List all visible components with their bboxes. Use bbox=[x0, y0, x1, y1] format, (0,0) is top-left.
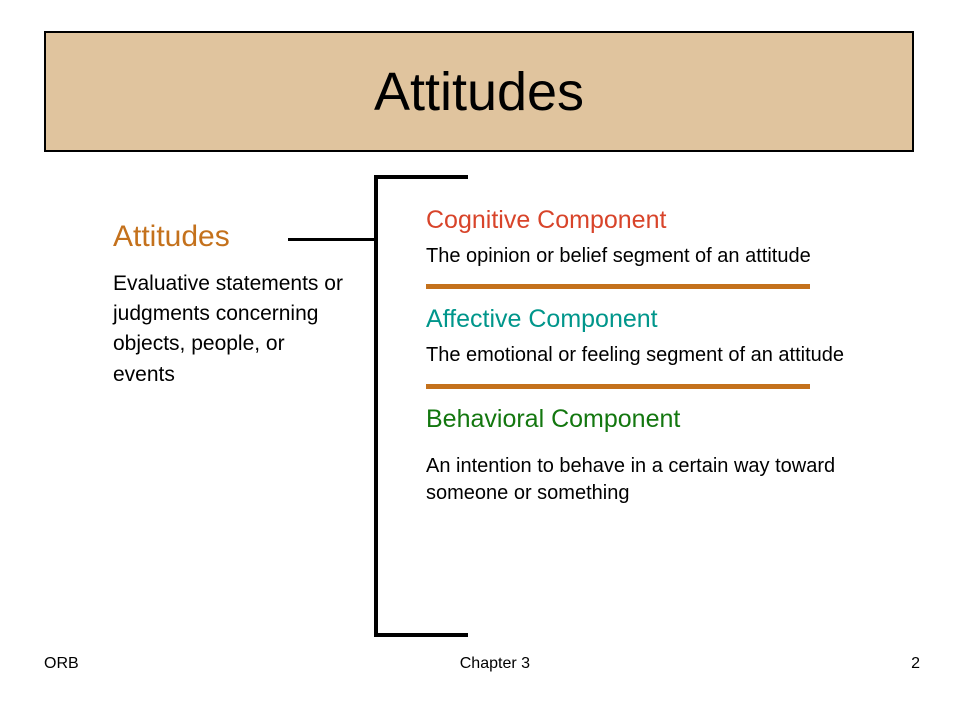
component-heading-affective: Affective Component bbox=[426, 305, 866, 334]
divider-2 bbox=[426, 384, 810, 389]
component-block-cognitive: Cognitive Component The opinion or belie… bbox=[426, 206, 866, 269]
page-title: Attitudes bbox=[374, 65, 584, 119]
component-body-cognitive: The opinion or belief segment of an atti… bbox=[426, 243, 866, 270]
bracket-bottom-arm bbox=[374, 633, 468, 637]
left-column-body: Evaluative statements or judgments conce… bbox=[113, 269, 348, 391]
left-definition-column: Attitudes Evaluative statements or judgm… bbox=[113, 221, 348, 390]
bracket-vertical-spine bbox=[374, 175, 378, 637]
component-body-affective: The emotional or feeling segment of an a… bbox=[426, 342, 866, 369]
components-column: Cognitive Component The opinion or belie… bbox=[426, 206, 866, 507]
component-heading-cognitive: Cognitive Component bbox=[426, 206, 866, 235]
component-block-affective: Affective Component The emotional or fee… bbox=[426, 305, 866, 368]
slide-footer: ORB Chapter 3 2 bbox=[44, 655, 920, 673]
component-body-behavioral: An intention to behave in a certain way … bbox=[426, 453, 866, 506]
attitudes-connector-line bbox=[288, 238, 378, 241]
spacer bbox=[426, 441, 866, 453]
divider-1 bbox=[426, 284, 810, 289]
footer-page-number: 2 bbox=[911, 655, 920, 673]
left-column-heading: Attitudes bbox=[113, 221, 348, 253]
footer-source-label: ORB bbox=[44, 655, 79, 673]
footer-chapter-label: Chapter 3 bbox=[79, 655, 911, 673]
component-block-behavioral: Behavioral Component An intention to beh… bbox=[426, 405, 866, 507]
bracket-top-arm bbox=[374, 175, 468, 179]
component-heading-behavioral: Behavioral Component bbox=[426, 405, 866, 434]
slide-title-bar: Attitudes bbox=[44, 31, 914, 152]
